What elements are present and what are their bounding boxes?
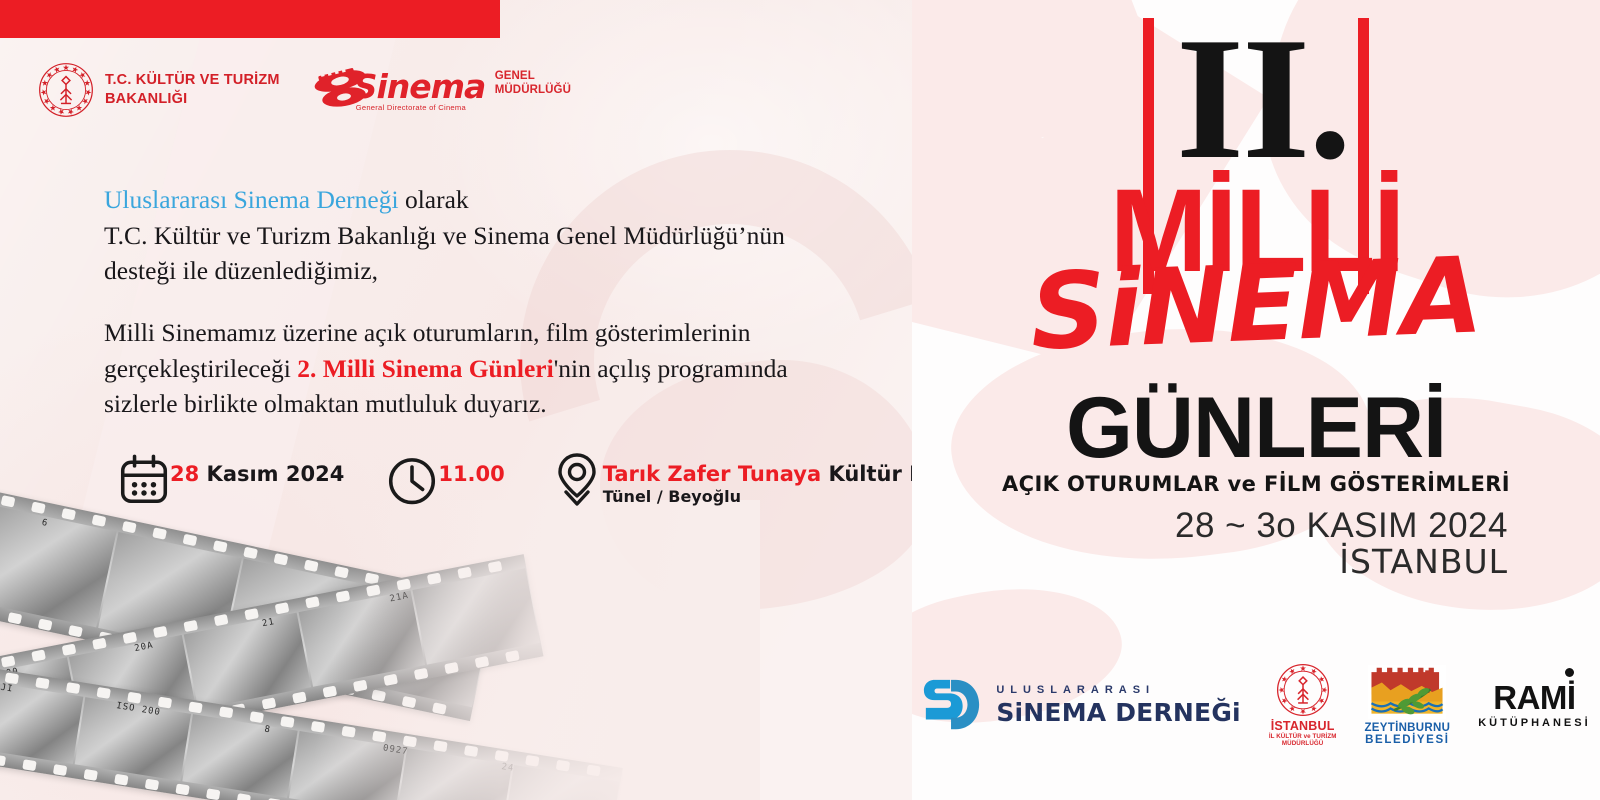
zeytinburnu-crest-icon xyxy=(1368,665,1446,719)
film-strip-collage: 6 02 S-400 20A 21 21A FUJI ISO 200 8 092… xyxy=(0,500,760,800)
film-code: S-400 xyxy=(0,667,20,683)
cinema-directorate-logo: Sinema General Directorate of Cinema GEN… xyxy=(310,64,571,116)
venue-line: Tarık Zafer Tunaya Kültür Merkezi xyxy=(603,462,912,487)
p2-line3: sizlerle birlikte olmaktan mutluluk duya… xyxy=(104,389,547,418)
p1-line2: T.C. Kültür ve Turizm Bakanlığı ve Sinem… xyxy=(104,221,785,250)
poster-city: İSTANBUL xyxy=(1339,542,1508,581)
event-venue-text: Tarık Zafer Tunaya Kültür Merkezi Tünel … xyxy=(603,452,912,508)
sponsor-line-top: ULUSLARARASI xyxy=(996,685,1240,696)
poster-canvas: 6 02 S-400 20A 21 21A FUJI ISO 200 8 092… xyxy=(0,0,1600,800)
event-time: 11.00 xyxy=(386,452,504,508)
ministry-logo-text: T.C. KÜLTÜR VE TURİZM BAKANLIĞI xyxy=(105,71,280,108)
ministry-logo: T.C. KÜLTÜR VE TURİZM BAKANLIĞI xyxy=(38,62,280,118)
cinema-directorate-text: GENEL MÜDÜRLÜĞÜ xyxy=(495,64,571,97)
poster-subtitle: AÇIK OTURUMLAR ve FİLM GÖSTERİMLERİ xyxy=(912,472,1600,496)
film-code: 20A xyxy=(134,641,155,654)
rami-text: RAMİ xyxy=(1493,679,1575,716)
invitation-body: Uluslararası Sinema Derneği olarak T.C. … xyxy=(104,182,904,422)
turkish-republic-seal-icon xyxy=(38,62,94,118)
venue-name: Tarık Zafer Tunaya xyxy=(603,462,821,486)
sinema-dernegi-text: ULUSLARARASI SiNEMA DERNEĞi xyxy=(996,685,1240,725)
right-poster-panel: II. MİLLİ SiNEMA GÜNLERİ AÇIK OTURUMLAR … xyxy=(912,0,1600,800)
event-venue: Tarık Zafer Tunaya Kültür Merkezi Tünel … xyxy=(551,452,912,508)
sponsor-zeytinburnu-belediyesi: ZEYTİNBURNU BELEDİYESİ xyxy=(1364,665,1450,746)
time-value: 11.00 xyxy=(438,462,504,486)
header-logo-row: T.C. KÜLTÜR VE TURİZM BAKANLIĞI xyxy=(38,62,571,118)
p2-line1: Milli Sinemamız üzerine açık oturumların… xyxy=(104,318,751,347)
time-line: 11.00 xyxy=(438,462,504,487)
istanbul-label: İSTANBUL xyxy=(1269,719,1337,733)
sponsor-line-bottom: SiNEMA DERNEĞi xyxy=(996,700,1240,725)
top-red-bar xyxy=(0,0,500,38)
sponsor-logo-bar: ULUSLARARASI SiNEMA DERNEĞi xyxy=(912,663,1600,749)
title-gunleri: GÜNLERİ xyxy=(912,385,1600,471)
p1-line3: desteği ile düzenlediğimiz, xyxy=(104,256,378,285)
sinema-word: Sinema xyxy=(354,67,486,106)
zeytinburnu-label: ZEYTİNBURNU xyxy=(1364,722,1450,734)
film-code: 21A xyxy=(389,591,410,604)
venue-suffix: Kültür Merkezi xyxy=(821,462,912,486)
event-time-text: 11.00 xyxy=(438,452,504,487)
date-day: 28 xyxy=(170,462,199,486)
organizer-name: Uluslararası Sinema Derneği xyxy=(104,185,399,214)
kutuphanesi-label: KÜTÜPHANESİ xyxy=(1478,717,1590,729)
sd-monogram-icon xyxy=(921,674,983,736)
event-name: 2. Milli Sinema Günleri xyxy=(297,354,553,383)
date-rest: Kasım 2024 xyxy=(199,462,344,486)
date-line: 28 Kasım 2024 xyxy=(170,462,344,487)
rami-dot-accent xyxy=(1565,668,1574,677)
clock-icon xyxy=(386,452,438,508)
p2-pre: gerçekleştirileceği xyxy=(104,354,297,383)
paragraph-2: Milli Sinemamız üzerine açık oturumların… xyxy=(104,315,904,422)
directorate-line-1: GENEL xyxy=(495,70,571,84)
film-code: ISO 200 xyxy=(116,701,162,718)
ministry-line-1: T.C. KÜLTÜR VE TURİZM xyxy=(105,71,280,90)
rami-wordmark: RAMİ xyxy=(1493,681,1575,714)
edition-number: II. xyxy=(1176,18,1350,179)
calendar-icon xyxy=(118,452,170,508)
p2-post: 'nin açılış programında xyxy=(554,354,788,383)
film-code: 21 xyxy=(261,617,276,629)
film-code: 0927 xyxy=(382,743,409,757)
ministry-line-2: BAKANLIĞI xyxy=(105,90,280,109)
turkish-republic-seal-icon xyxy=(1276,663,1330,717)
paragraph-1: Uluslararası Sinema Derneği olarak T.C. … xyxy=(104,182,904,289)
belediyesi-label: BELEDİYESİ xyxy=(1364,734,1450,746)
sponsor-rami-kutuphanesi: RAMİ KÜTÜPHANESİ xyxy=(1478,681,1590,729)
film-code: FUJI xyxy=(0,681,14,695)
film-code: 8 xyxy=(264,725,272,736)
istanbul-sub-2: MÜDÜRLÜĞÜ xyxy=(1269,740,1337,748)
sinema-english-sub: General Directorate of Cinema xyxy=(356,103,466,112)
venue-district: Tünel / Beyoğlu xyxy=(603,487,912,508)
film-strip: FUJI ISO 200 8 0927 24 xyxy=(0,649,623,800)
p1-rest-line1: olarak xyxy=(399,185,469,214)
location-pin-icon xyxy=(551,452,603,508)
left-info-panel: 6 02 S-400 20A 21 21A FUJI ISO 200 8 092… xyxy=(0,0,912,800)
sinema-wordmark: Sinema General Directorate of Cinema xyxy=(310,64,488,116)
sponsor-istanbul-il-kultur-turizm: İSTANBUL İL KÜLTÜR ve TURİZM MÜDÜRLÜĞÜ xyxy=(1269,663,1337,749)
film-strip: S-400 20A 21 21A xyxy=(0,554,543,790)
film-fade-overlay xyxy=(0,500,760,800)
film-code: 24 xyxy=(501,762,515,774)
event-date: 28 Kasım 2024 xyxy=(118,452,344,508)
film-code: 6 xyxy=(41,518,49,529)
directorate-line-2: MÜDÜRLÜĞÜ xyxy=(495,84,571,98)
event-date-text: 28 Kasım 2024 xyxy=(170,452,344,487)
event-details-row: 28 Kasım 2024 11.00 xyxy=(118,452,912,508)
sponsor-uluslararasi-sinema-dernegi: ULUSLARARASI SiNEMA DERNEĞi xyxy=(921,674,1240,736)
